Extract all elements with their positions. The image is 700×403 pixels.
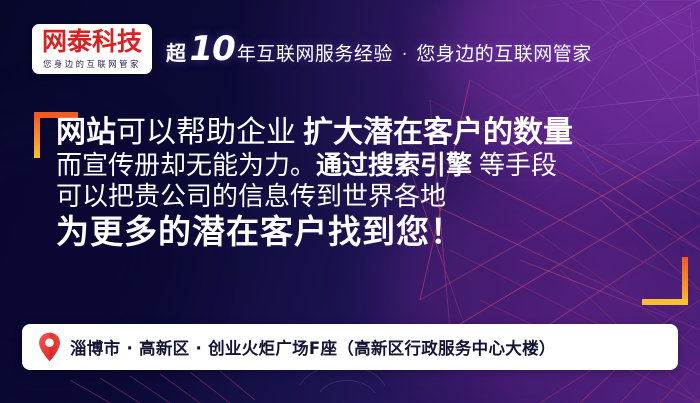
header-tagline: 超 10 年互联网服务经验 · 您身边的互联网管家 [166,32,592,66]
logo-subtitle: 您身边的互联网管家 [43,58,141,70]
bracket-horizontal-bar [642,299,688,305]
location-pin-icon [38,332,61,362]
tagline-number: 10 [190,32,235,66]
promotional-banner: 网泰科技 您身边的互联网管家 超 10 年互联网服务经验 · 您身边的互联网管家… [0,0,700,403]
tagline-slogan: 您身边的互联网管家 [416,39,592,66]
bracket-vertical-bar [34,112,40,158]
tagline-separator: · [402,45,407,65]
headline-line2-regular-tail: 等手段 [479,151,557,181]
headline-line-1: 网站可以帮助企业扩大潜在客户的数量 [56,118,573,148]
headline-line-4: 为更多的潜在客户找到您！ [56,215,573,248]
banner-header: 网泰科技 您身边的互联网管家 超 10 年互联网服务经验 · 您身边的互联网管家 [32,24,592,74]
headline-line-3: 可以把贵公司的信息传到世界各地 [56,184,573,210]
headline-line2-regular-lead: 而宣传册却无能为力。 [56,151,316,181]
corner-bracket-bottom-right [642,257,688,305]
headline-block: 网站可以帮助企业扩大潜在客户的数量 而宣传册却无能为力。通过搜索引擎等手段 可以… [56,118,573,253]
headline-line1-bold-lead: 网站 [56,115,116,150]
address-text: 淄博市 · 高新区 · 创业火炬广场F座（高新区行政服务中心大楼） [70,335,556,359]
headline-line-2: 而宣传册却无能为力。通过搜索引擎等手段 [56,153,573,179]
bracket-vertical-bar [682,257,688,305]
tagline-suffix: 年互联网服务经验 [237,39,393,66]
address-bar: 淄博市 · 高新区 · 创业火炬广场F座（高新区行政服务中心大楼） [22,324,678,370]
headline-line1-regular: 可以帮助企业 [116,115,296,150]
headline-line2-bold: 通过搜索引擎 [316,151,472,181]
company-logo: 网泰科技 您身边的互联网管家 [32,24,152,74]
logo-text: 网泰科技 [42,29,142,55]
tagline-prefix: 超 [166,37,187,66]
headline-line1-bold-tail: 扩大潜在客户的数量 [303,115,573,150]
